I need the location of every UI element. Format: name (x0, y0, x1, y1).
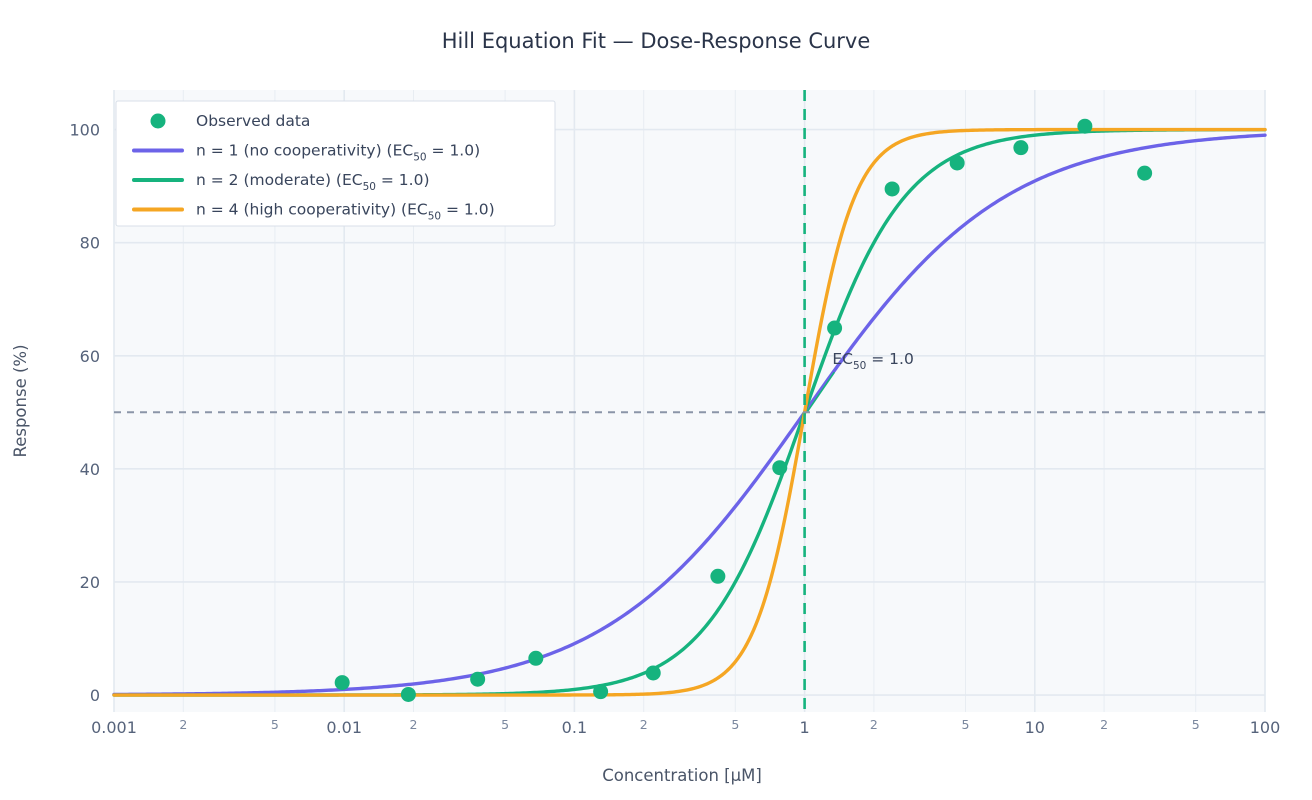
data-point (646, 665, 661, 680)
data-point (772, 460, 787, 475)
data-point (1137, 166, 1152, 181)
data-point (710, 569, 725, 584)
y-tick-label: 100 (69, 121, 100, 140)
x-tick-label-minor: 2 (179, 717, 187, 732)
y-tick-label: 0 (90, 686, 100, 705)
legend-label-tail: = 1.0) (441, 201, 495, 219)
y-axis-label: Response (%) (11, 344, 30, 457)
data-point (470, 672, 485, 687)
data-point (335, 675, 350, 690)
legend-marker-dot (151, 114, 166, 129)
x-tick-label-major: 1 (800, 718, 810, 737)
x-tick-label-major: 10 (1025, 718, 1045, 737)
data-point (401, 687, 416, 702)
x-tick-label-major: 0.1 (562, 718, 587, 737)
x-tick-label-minor: 5 (962, 717, 970, 732)
data-point (528, 651, 543, 666)
legend-label-main: n = 2 (moderate) (EC (196, 171, 363, 189)
x-tick-label-minor: 5 (271, 717, 279, 732)
x-axis-label: Concentration [µM] (602, 766, 762, 785)
x-tick-label-minor: 5 (731, 717, 739, 732)
dose-response-chart: Hill Equation Fit — Dose-Response Curve … (0, 0, 1312, 800)
legend-label-main: n = 1 (no cooperativity) (EC (196, 142, 413, 160)
page-title: Hill Equation Fit — Dose-Response Curve (442, 29, 871, 53)
legend-label-tail: = 1.0) (376, 171, 430, 189)
x-tick-label-major: 0.01 (326, 718, 362, 737)
legend-label-main: n = 4 (high cooperativity) (EC (196, 201, 428, 219)
y-tick-label: 60 (80, 347, 100, 366)
data-point (1077, 119, 1092, 134)
chart-figure: Hill Equation Fit — Dose-Response Curve … (0, 0, 1312, 800)
x-tick-label-major: 0.001 (91, 718, 137, 737)
legend-label-subscript: 50 (363, 181, 376, 193)
legend-item-label[interactable]: Observed data (196, 112, 310, 130)
x-tick-label-minor: 2 (1100, 717, 1108, 732)
data-point (950, 155, 965, 170)
x-tick-label-minor: 2 (870, 717, 878, 732)
legend-label-subscript: 50 (428, 211, 441, 223)
x-tick-label-minor: 2 (640, 717, 648, 732)
annotation-label-main: EC (832, 350, 853, 368)
legend-label-tail: = 1.0) (427, 142, 481, 160)
legend-label-main: Observed data (196, 112, 310, 130)
y-tick-label: 20 (80, 573, 100, 592)
annotation-label-tail: = 1.0 (866, 350, 914, 368)
y-tick-label: 40 (80, 460, 100, 479)
x-tick-label-minor: 5 (1192, 717, 1200, 732)
y-tick-label: 80 (80, 234, 100, 253)
data-point (1013, 140, 1028, 155)
data-point (593, 684, 608, 699)
x-tick-label-major: 100 (1250, 718, 1281, 737)
data-point (885, 181, 900, 196)
annotation-label-subscript: 50 (853, 360, 866, 372)
x-tick-label-minor: 2 (410, 717, 418, 732)
chart-legend[interactable]: Observed datan = 1 (no cooperativity) (E… (116, 101, 555, 226)
data-point (827, 321, 842, 336)
x-tick-label-minor: 5 (501, 717, 509, 732)
legend-label-subscript: 50 (413, 152, 426, 164)
